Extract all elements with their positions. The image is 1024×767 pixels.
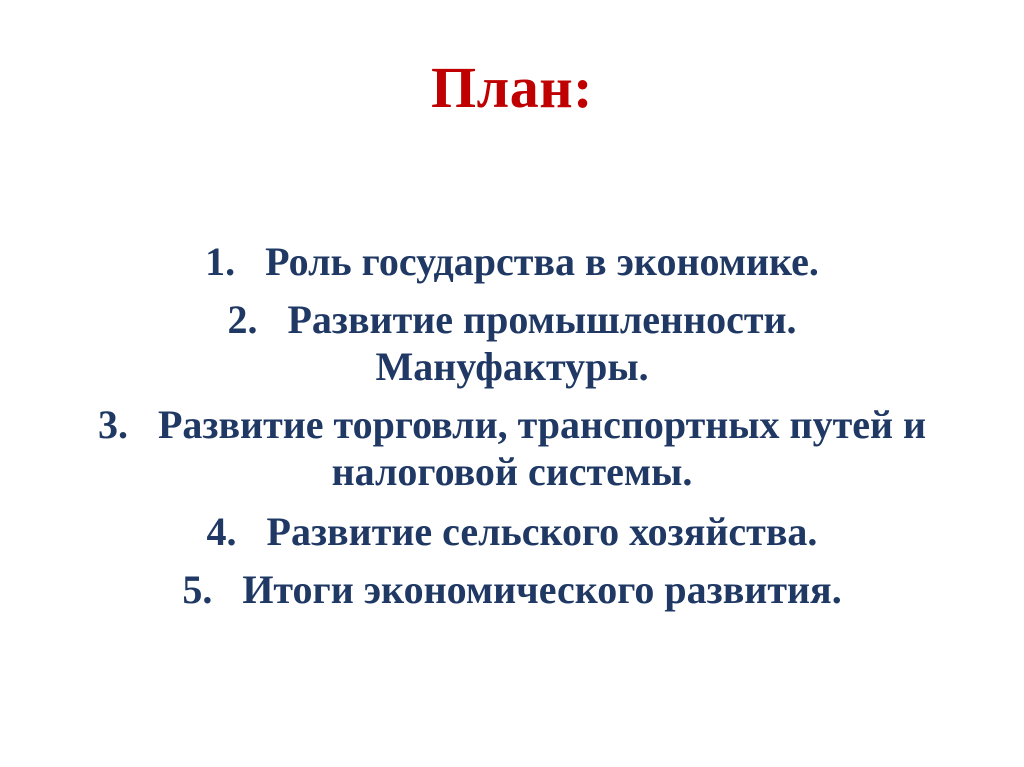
list-item-number: 5. <box>182 567 212 612</box>
list-item-content: 4.Развитие сельского хозяйства. <box>207 509 818 554</box>
list-item-content: 1.Роль государства в экономике. <box>205 239 819 284</box>
presentation-slide: План: 1.Роль государства в экономике. 2.… <box>0 0 1024 767</box>
list-item-content: 2.Развитие промышленности. Мануфактуры. <box>227 297 796 390</box>
list-item-label: Развитие торговли, транспортных путей и … <box>158 402 926 495</box>
page-title: План: <box>0 58 1024 119</box>
list-item: 5.Итоги экономического развития. <box>62 566 962 614</box>
list-item-content: 3.Развитие торговли, транспортных путей … <box>98 402 926 495</box>
list-item: 1.Роль государства в экономике. <box>62 238 962 286</box>
list-item: 3.Развитие торговли, транспортных путей … <box>62 401 962 496</box>
list-item-label: Роль государства в экономике. <box>265 239 819 284</box>
list-item-label: Развитие сельского хозяйства. <box>267 509 818 554</box>
list-item: 2.Развитие промышленности. Мануфактуры. <box>62 296 962 391</box>
list-item-number: 1. <box>205 239 235 284</box>
list-item-number: 2. <box>227 297 257 342</box>
list-item-label: Развитие промышленности. Мануфактуры. <box>287 297 796 390</box>
plan-list: 1.Роль государства в экономике. 2.Развит… <box>62 238 962 613</box>
list-item-content: 5.Итоги экономического развития. <box>182 567 841 612</box>
list-item-label: Итоги экономического развития. <box>242 567 841 612</box>
list-item-number: 4. <box>207 509 237 554</box>
list-item-number: 3. <box>98 402 128 447</box>
list-item: 4.Развитие сельского хозяйства. <box>62 508 962 556</box>
